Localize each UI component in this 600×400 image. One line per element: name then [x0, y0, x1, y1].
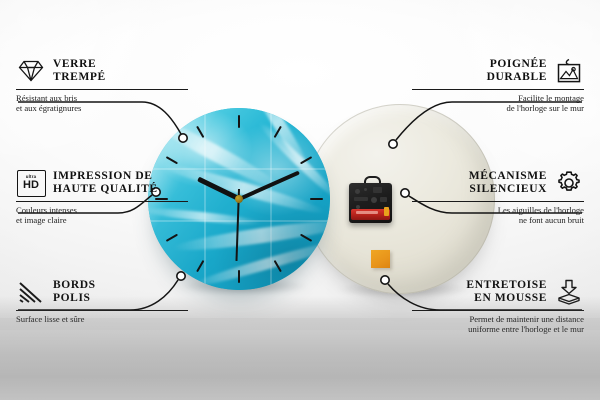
callout-title: IMPRESSION DE HAUTE QUALITÉ [53, 170, 158, 196]
clock-hand-cap [235, 195, 243, 203]
hour-marker [310, 198, 323, 200]
foam-spacer-pad [371, 250, 390, 268]
callout-mecanisme-silencieux: MÉCANISME SILENCIEUX Les aiguilles de l'… [412, 168, 584, 226]
foam-spacer-icon [554, 277, 584, 307]
callout-divider [16, 89, 188, 90]
clock-movement-box [349, 183, 392, 223]
ultra-hd-icon: ultra HD [16, 168, 46, 198]
callout-entretoise-en-mousse: ENTRETOISE EN MOUSSE Permet de maintenir… [412, 277, 584, 335]
callout-divider [16, 201, 188, 202]
callout-title: MÉCANISME SILENCIEUX [469, 170, 547, 196]
callout-header: MÉCANISME SILENCIEUX [412, 168, 584, 198]
callout-title: VERRE TREMPÉ [53, 58, 106, 84]
callout-description: Les aiguilles de l'horloge ne font aucun… [412, 205, 584, 226]
callout-impression-haute-qualite: ultra HD IMPRESSION DE HAUTE QUALITÉ Cou… [16, 168, 188, 226]
gear-icon [554, 168, 584, 198]
callout-description: Couleurs intenses et image claire [16, 205, 188, 226]
callout-description: Surface lisse et sûre [16, 314, 188, 324]
callout-description: Permet de maintenir une distance uniform… [412, 314, 584, 335]
callout-description: Résistant aux bris et aux égratignures [16, 93, 188, 114]
callout-header: ENTRETOISE EN MOUSSE [412, 277, 584, 307]
callout-verre-trempe: VERRE TREMPÉ Résistant aux bris et aux é… [16, 56, 188, 114]
polished-edge-icon [16, 277, 46, 307]
callout-title: POIGNÉE DURABLE [487, 58, 547, 84]
infographic-canvas: VERRE TREMPÉ Résistant aux bris et aux é… [0, 0, 600, 400]
callout-header: VERRE TREMPÉ [16, 56, 188, 86]
callout-poignee-durable: POIGNÉE DURABLE Facilite le montage de l… [412, 56, 584, 114]
callout-header: ultra HD IMPRESSION DE HAUTE QUALITÉ [16, 168, 188, 198]
callout-divider [412, 310, 584, 311]
hour-marker [238, 270, 240, 283]
callout-bords-polis: BORDS POLIS Surface lisse et sûre [16, 277, 188, 324]
picture-hanger-icon [554, 56, 584, 86]
hour-marker [238, 115, 240, 128]
callout-divider [412, 201, 584, 202]
callout-title: ENTRETOISE EN MOUSSE [466, 279, 547, 305]
callout-title: BORDS POLIS [53, 279, 96, 305]
callout-divider [412, 89, 584, 90]
callout-divider [16, 310, 188, 311]
ultra-hd-icon-large-label: HD [23, 180, 39, 191]
callout-description: Facilite le montage de l'horloge sur le … [412, 93, 584, 114]
diamond-icon [16, 56, 46, 86]
callout-header: BORDS POLIS [16, 277, 188, 307]
clock-battery [351, 209, 390, 220]
callout-header: POIGNÉE DURABLE [412, 56, 584, 86]
